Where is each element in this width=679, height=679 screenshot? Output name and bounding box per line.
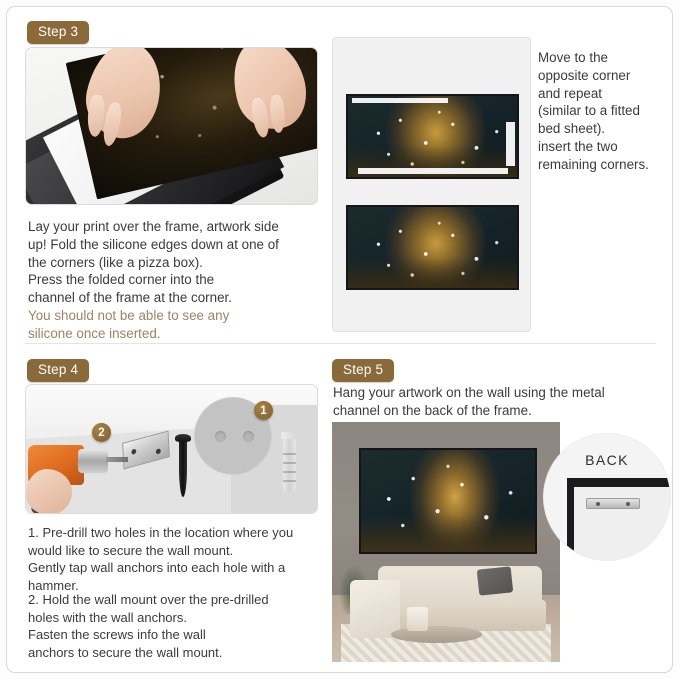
step-4-diagram: 1 2 <box>25 384 318 514</box>
screw-icon <box>179 439 187 497</box>
hung-artwork-icon <box>359 448 537 554</box>
callout-badge-2: 2 <box>92 423 111 442</box>
coffee-table-icon <box>391 626 482 643</box>
pillow-icon <box>477 567 514 597</box>
step-5-photo <box>332 422 560 662</box>
artwork-photo-mounted <box>346 205 519 290</box>
drill-bit-icon <box>106 457 128 462</box>
step-4-description-2: 2. Hold the wall mount over the pre-dril… <box>28 591 318 662</box>
metal-channel-icon <box>586 498 640 509</box>
loose-silicone-edge-icon <box>506 122 515 166</box>
step-4-section: Step 4 <box>7 348 325 673</box>
anchor-rib <box>283 453 296 455</box>
hand-holding-drill-icon <box>26 469 72 514</box>
back-detail-callout: BACK <box>543 433 671 561</box>
finger-icon <box>87 94 106 137</box>
artwork-photo-loose-edge <box>346 94 519 179</box>
step-3-description: Lay your print over the frame, artwork s… <box>28 218 328 307</box>
step-3-photo <box>25 47 318 205</box>
step-3-section: Step 3 Move to the op <box>7 7 673 347</box>
step-5-badge: Step 5 <box>332 359 394 382</box>
step-4-badge: Step 4 <box>27 359 89 382</box>
section-divider <box>25 343 656 344</box>
anchor-rib <box>283 471 296 473</box>
anchor-rib <box>283 462 296 464</box>
channel-hole-icon <box>626 502 630 506</box>
step-3-badge: Step 3 <box>27 21 89 44</box>
channel-hole-icon <box>596 502 600 506</box>
instruction-sheet: Step 3 Move to the op <box>6 6 673 673</box>
anchor-rib <box>283 480 296 482</box>
callout-label-back: BACK <box>544 452 670 468</box>
frame-back-icon <box>567 478 671 561</box>
loose-silicone-edge-icon <box>352 98 448 103</box>
step-4-badge-wrapper: Step 4 <box>27 359 89 382</box>
wall-anchor-icon <box>283 437 296 493</box>
step-3-description-highlight: You should not be able to see any silico… <box>28 307 328 343</box>
loose-silicone-edge-icon <box>358 168 508 174</box>
vase-icon <box>407 607 428 631</box>
bracket-hole-icon <box>156 448 161 454</box>
step-4-description-1: 1. Pre-drill two holes in the location w… <box>28 524 318 595</box>
throw-blanket-icon <box>350 580 400 638</box>
finger-icon <box>269 94 286 133</box>
drill-chuck-icon <box>78 449 108 473</box>
step-5-description: Hang your artwork on the wall using the … <box>333 384 663 420</box>
step-3-description-block: Lay your print over the frame, artwork s… <box>28 218 328 343</box>
drilled-hole-icon <box>215 431 226 442</box>
step-5-badge-wrapper: Step 5 <box>332 359 394 382</box>
step-3-artwork-panel <box>332 37 531 332</box>
step-3-badge-wrapper: Step 3 <box>27 21 89 44</box>
callout-badge-1: 1 <box>254 401 273 420</box>
drilled-hole-icon <box>243 431 254 442</box>
step-3-side-text: Move to the opposite corner and repeat (… <box>538 49 666 174</box>
bracket-hole-icon <box>131 449 136 455</box>
